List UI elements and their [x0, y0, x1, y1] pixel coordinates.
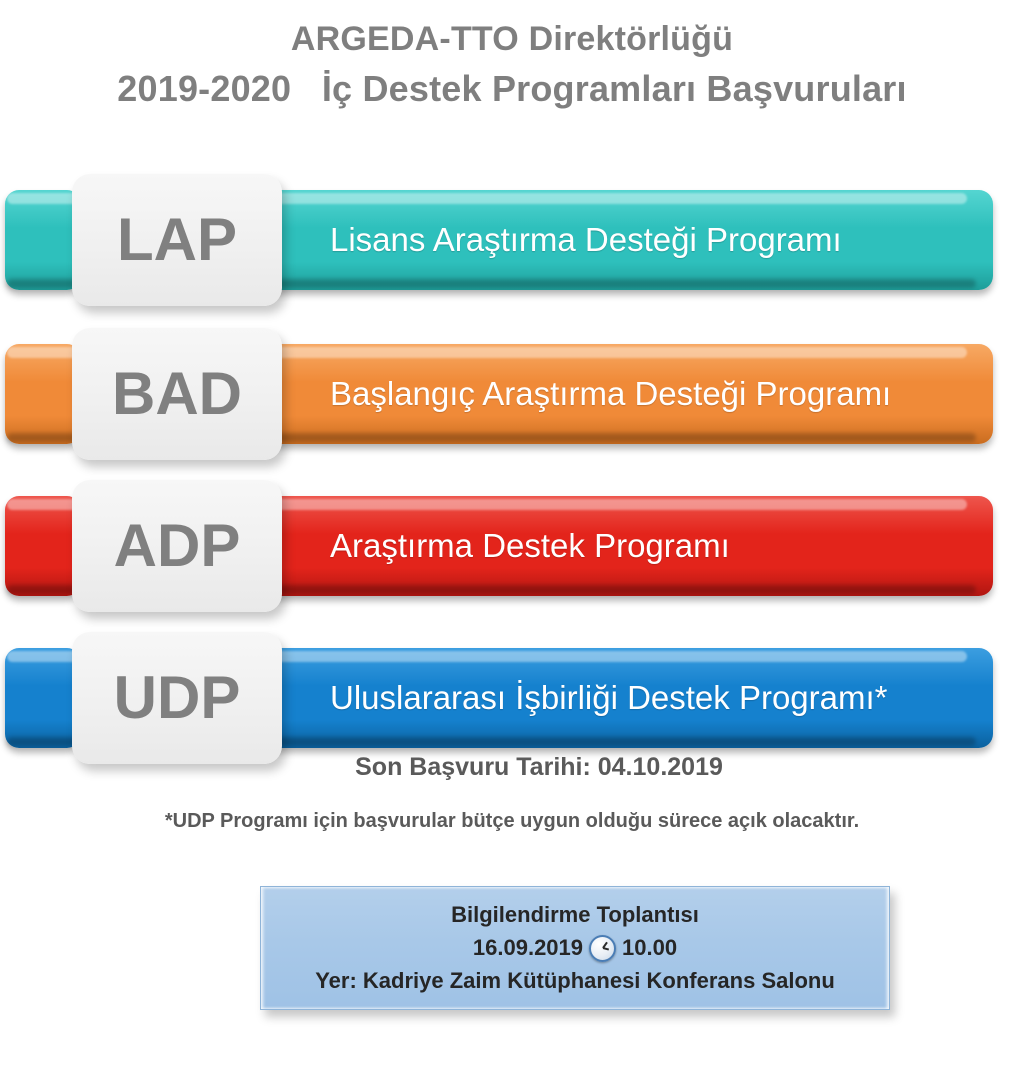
- program-code-card[interactable]: ADP: [72, 480, 282, 612]
- info-time: 10.00: [622, 933, 677, 963]
- program-bar-cap: [5, 496, 81, 596]
- info-date: 16.09.2019: [473, 933, 583, 963]
- program-bar-cap: [5, 648, 81, 748]
- footnote-text: *UDP Programı için başvurular bütçe uygu…: [0, 810, 1024, 833]
- program-list: Lisans Araştırma Desteği ProgramıLAPBaşl…: [0, 0, 1024, 790]
- program-name: Lisans Araştırma Desteği Programı: [330, 190, 842, 290]
- info-meeting-box: Bilgilendirme Toplantısı 16.09.2019 10.0…: [260, 886, 890, 1010]
- program-code-card[interactable]: UDP: [72, 632, 282, 764]
- program-name: Uluslararası İşbirliği Destek Programı*: [330, 648, 888, 748]
- program-code-label: ADP: [114, 516, 241, 576]
- program-bar-cap: [5, 344, 81, 444]
- program-name: Başlangıç Araştırma Desteği Programı: [330, 344, 891, 444]
- info-heading: Bilgilendirme Toplantısı: [451, 900, 699, 930]
- program-name: Araştırma Destek Programı: [330, 496, 730, 596]
- program-code-label: UDP: [114, 668, 241, 728]
- info-place: Yer: Kadriye Zaim Kütüphanesi Konferans …: [315, 966, 835, 996]
- program-code-label: BAD: [112, 364, 242, 424]
- program-code-card[interactable]: BAD: [72, 328, 282, 460]
- info-datetime: 16.09.2019 10.00: [473, 933, 677, 963]
- program-bar-cap: [5, 190, 81, 290]
- clock-icon: [589, 935, 616, 962]
- program-code-card[interactable]: LAP: [72, 174, 282, 306]
- program-code-label: LAP: [117, 210, 237, 270]
